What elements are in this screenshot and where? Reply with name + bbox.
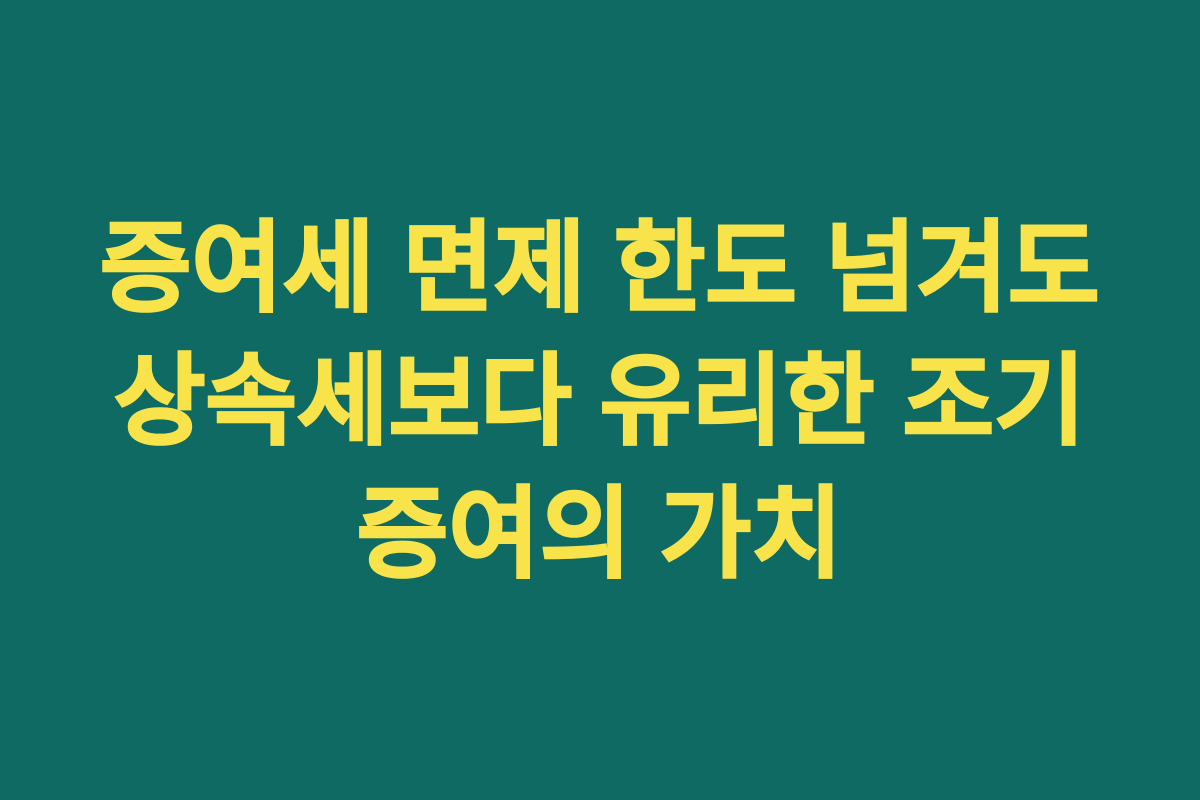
headline-block: 증여세 면제 한도 넘겨도 상속세보다 유리한 조기 증여의 가치 (70, 201, 1130, 600)
banner-canvas: 증여세 면제 한도 넘겨도 상속세보다 유리한 조기 증여의 가치 (0, 0, 1200, 800)
headline-text: 증여세 면제 한도 넘겨도 상속세보다 유리한 조기 증여의 가치 (70, 201, 1130, 600)
